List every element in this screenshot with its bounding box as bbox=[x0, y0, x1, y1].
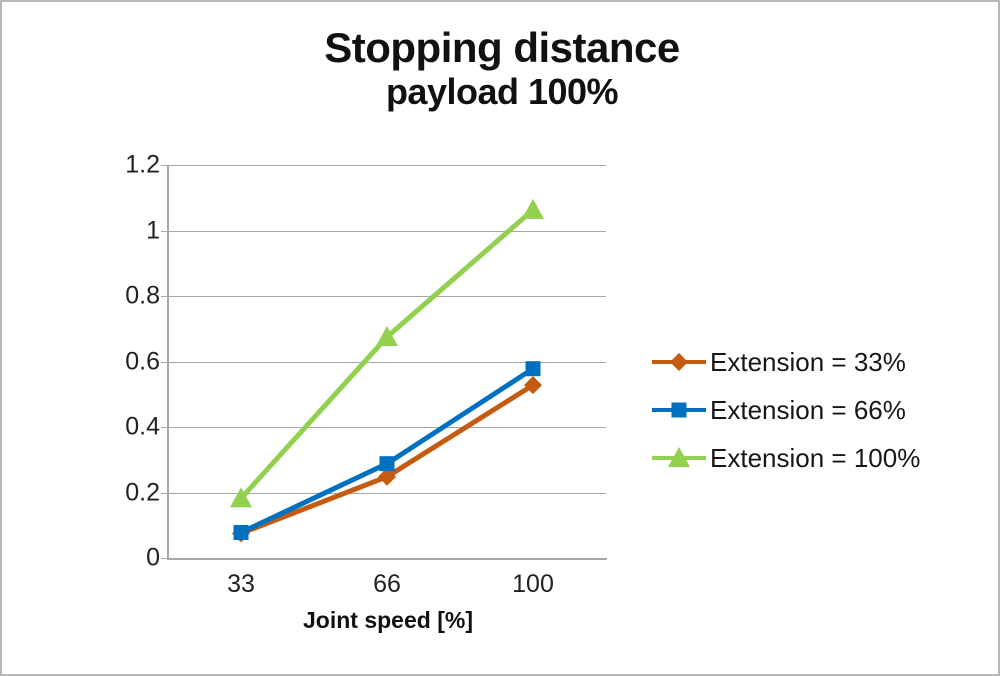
legend: Extension = 33%Extension = 66%Extension … bbox=[650, 338, 990, 482]
diamond-marker bbox=[670, 353, 688, 371]
legend-swatch-triangle bbox=[650, 443, 708, 473]
plot-area: 00.20.40.60.811.2 3366100 bbox=[168, 165, 606, 558]
y-axis-tick-label: 0.6 bbox=[90, 347, 160, 376]
x-axis-tick-label: 100 bbox=[512, 570, 554, 599]
x-axis-tick-label: 33 bbox=[227, 570, 255, 599]
y-axis-tick-label: 1 bbox=[90, 216, 160, 245]
legend-label: Extension = 100% bbox=[710, 443, 920, 474]
series-2 bbox=[234, 361, 541, 540]
y-axis-tick-label: 0 bbox=[90, 544, 160, 573]
square-marker bbox=[526, 361, 541, 376]
title-block: Stopping distance payload 100% bbox=[2, 24, 1000, 112]
x-axis-tick-label: 66 bbox=[373, 570, 401, 599]
square-marker bbox=[380, 456, 395, 471]
legend-swatch-square bbox=[650, 395, 708, 425]
y-axis-tick-label: 0.4 bbox=[90, 413, 160, 442]
chart-subtitle: payload 100% bbox=[2, 71, 1000, 112]
square-marker bbox=[234, 525, 249, 540]
legend-item-2[interactable]: Extension = 66% bbox=[650, 386, 990, 434]
legend-label: Extension = 66% bbox=[710, 395, 906, 426]
legend-item-3[interactable]: Extension = 100% bbox=[650, 434, 990, 482]
legend-label: Extension = 33% bbox=[710, 347, 906, 378]
triangle-marker bbox=[522, 199, 544, 219]
series-plot bbox=[168, 165, 606, 559]
x-axis-title: Joint speed [%] bbox=[168, 607, 608, 634]
legend-item-1[interactable]: Extension = 33% bbox=[650, 338, 990, 386]
y-axis-tick-label: 0.2 bbox=[90, 478, 160, 507]
y-axis-tick-label: 0.8 bbox=[90, 282, 160, 311]
series-line bbox=[241, 210, 533, 499]
chart-container: Stopping distance payload 100% Distance … bbox=[0, 0, 1000, 676]
y-axis-tick-label: 1.2 bbox=[90, 151, 160, 180]
chart-title: Stopping distance bbox=[2, 24, 1000, 71]
square-marker bbox=[672, 403, 687, 418]
legend-swatch-diamond bbox=[650, 347, 708, 377]
